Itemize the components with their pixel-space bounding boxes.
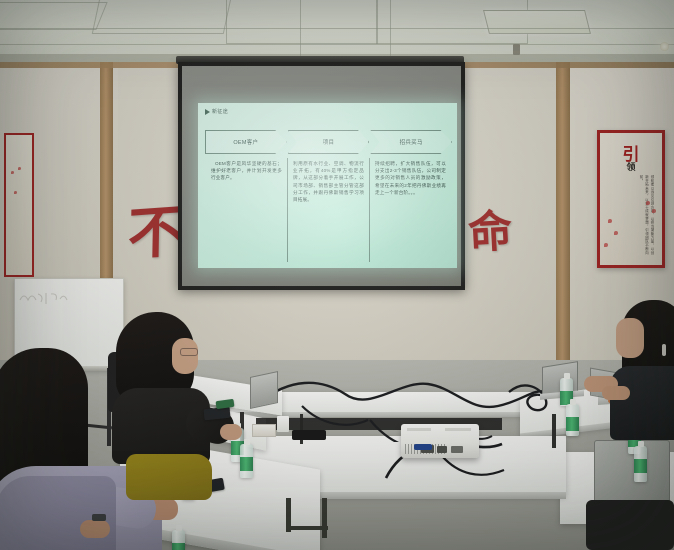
laptop-left[interactable] (246, 374, 280, 408)
wall-calligraphy-left: 不 (127, 186, 184, 271)
table-leg (322, 498, 327, 538)
glasses-icon (180, 348, 198, 356)
hand (80, 520, 110, 538)
ceiling-light-panel (483, 10, 591, 34)
power-strip (292, 430, 326, 440)
hand (602, 386, 630, 400)
person-right (606, 300, 674, 440)
projector-hdmi-port (437, 446, 447, 453)
slide-columns: OEM客户是风华坚硬的基石；维护好老客户，并计划开发更多行业客户。 利用原有水行… (206, 158, 451, 262)
ceiling-seam (300, 0, 302, 56)
slide-column-text: 利用原有水行业、空调、物流行业开拓，有40%是甲方指定品牌，从这部分着手开展工作… (293, 160, 364, 203)
chevron-label: 招兵买马 (400, 138, 423, 146)
chair-right[interactable] (586, 500, 674, 550)
hand (220, 424, 242, 440)
ceiling-seam (0, 44, 674, 46)
shirt (0, 476, 116, 550)
projector-lan-port (451, 446, 463, 453)
person-edge-left (0, 476, 116, 550)
paper-cup (277, 416, 289, 432)
trousers (126, 454, 212, 500)
chevron-label: 项目 (323, 138, 335, 146)
whiteboard-scribble (18, 290, 70, 306)
slide-title: 新征途 (205, 108, 228, 115)
watch-icon (92, 514, 106, 521)
ceiling-panel (0, 2, 108, 30)
earring-icon (662, 344, 666, 356)
shirt (610, 366, 674, 440)
chevron-step-3: 招兵买马 (370, 130, 452, 154)
slide-column-text: 持续招聘，扩大销售队伍，可以分支出2-3个销售队伍，公司制定更多的对销售人员的激… (375, 160, 446, 196)
wall-calligraphy-right: 命 (466, 195, 513, 261)
slide-column-1: OEM客户是风华坚硬的基石；维护好老客户，并计划开发更多行业客户。 (206, 158, 287, 262)
projector-trim (407, 428, 431, 431)
face (172, 338, 198, 374)
wood-trim (556, 62, 570, 374)
face (616, 318, 644, 358)
photo-scene: 不 命 引 领 领航者以远见引领方向，以担当凝聚力量，以创新开拓未来，以实干成就… (0, 0, 674, 550)
slide-column-3: 持续招聘，扩大销售队伍，可以分支出2-3个销售队伍，公司制定更多的对销售人员的激… (369, 158, 451, 262)
chevron-label: OEM客户 (233, 138, 258, 146)
table-leg-brace (286, 526, 328, 530)
wall-poster-right: 引 领 领航者以远见引领方向，以担当凝聚力量，以创新开拓未来，以实干成就梦想，引… (597, 130, 665, 268)
slide-title-text: 新征途 (212, 108, 228, 115)
water-bottle[interactable] (566, 404, 579, 436)
slide-column-text: OEM客户是风华坚硬的基石；维护好老客户，并计划开发更多行业客户。 (211, 160, 282, 182)
chevron-step-1: OEM客户 (205, 130, 287, 154)
slide-column-2: 利用原有水行业、空调、物流行业开拓，有40%是甲方指定品牌，从这部分着手开展工作… (287, 158, 369, 262)
ceiling-seam (0, 28, 674, 30)
laptop-screen (250, 371, 278, 409)
water-bottle[interactable] (240, 444, 253, 478)
table-leg (552, 414, 556, 448)
water-bottle[interactable] (634, 446, 647, 482)
snack-tray (252, 424, 276, 437)
chevron-row: OEM客户 项目 招兵买马 (205, 130, 452, 152)
projector-plug (414, 444, 432, 450)
projection-screen: 新征途 OEM客户 项目 招兵买马 OEM客户是风华坚硬的基石；维护好老客 (178, 62, 465, 290)
poster-sub-char: 领 (626, 160, 635, 173)
ceiling-panel (226, 0, 378, 44)
chevron-step-2: 项目 (288, 130, 370, 154)
ceiling (0, 0, 674, 62)
projector-label (445, 428, 471, 431)
ceiling-seam (390, 0, 392, 56)
wall-poster-left (4, 133, 34, 277)
play-triangle-icon (205, 109, 210, 115)
ceiling-downlight-icon (660, 42, 669, 51)
poster-body-text: 领航者以远见引领方向，以担当凝聚力量，以创新开拓未来，以实干成就梦想，引领团队不… (612, 175, 654, 255)
slide-content: 新征途 OEM客户 项目 招兵买马 OEM客户是风华坚硬的基石；维护好老客 (198, 103, 457, 268)
projector[interactable] (401, 424, 479, 458)
